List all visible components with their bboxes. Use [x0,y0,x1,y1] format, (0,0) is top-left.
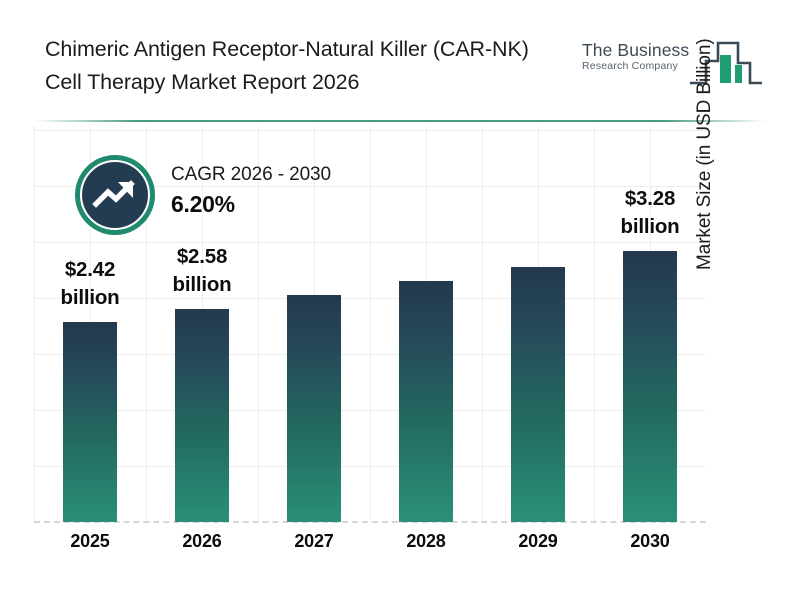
company-logo: The Business Research Company [582,33,762,95]
logo-line-2: Research Company [582,60,700,73]
value-label-2026: $2.58billion [132,243,272,299]
bar-2025 [63,322,117,522]
x-tick-2027: 2027 [264,531,364,552]
x-tick-2030: 2030 [600,531,700,552]
chart-page: Chimeric Antigen Receptor-Natural Killer… [0,0,800,600]
logo-line-1: The Business [582,41,700,60]
x-axis: 202520262027202820292030 [34,531,706,561]
bar-2030 [623,251,677,522]
bar-2029 [511,267,565,522]
page-title: Chimeric Antigen Receptor-Natural Killer… [45,33,565,99]
cagr-label: CAGR 2026 - 2030 [171,162,411,188]
bar-2027 [287,295,341,522]
cagr-value: 6.20% [171,188,411,220]
cagr-text: CAGR 2026 - 2030 6.20% [171,162,411,220]
bar-2028 [399,281,453,522]
x-tick-2025: 2025 [40,531,140,552]
header-divider [34,120,766,122]
x-tick-2029: 2029 [488,531,588,552]
y-axis-label: Market Size (in USD Billion) [694,0,720,270]
trending-up-icon [82,162,148,228]
bar-2026 [175,309,229,522]
x-tick-2028: 2028 [376,531,476,552]
header: Chimeric Antigen Receptor-Natural Killer… [0,0,800,122]
x-tick-2026: 2026 [152,531,252,552]
logo-text: The Business Research Company [582,41,700,73]
